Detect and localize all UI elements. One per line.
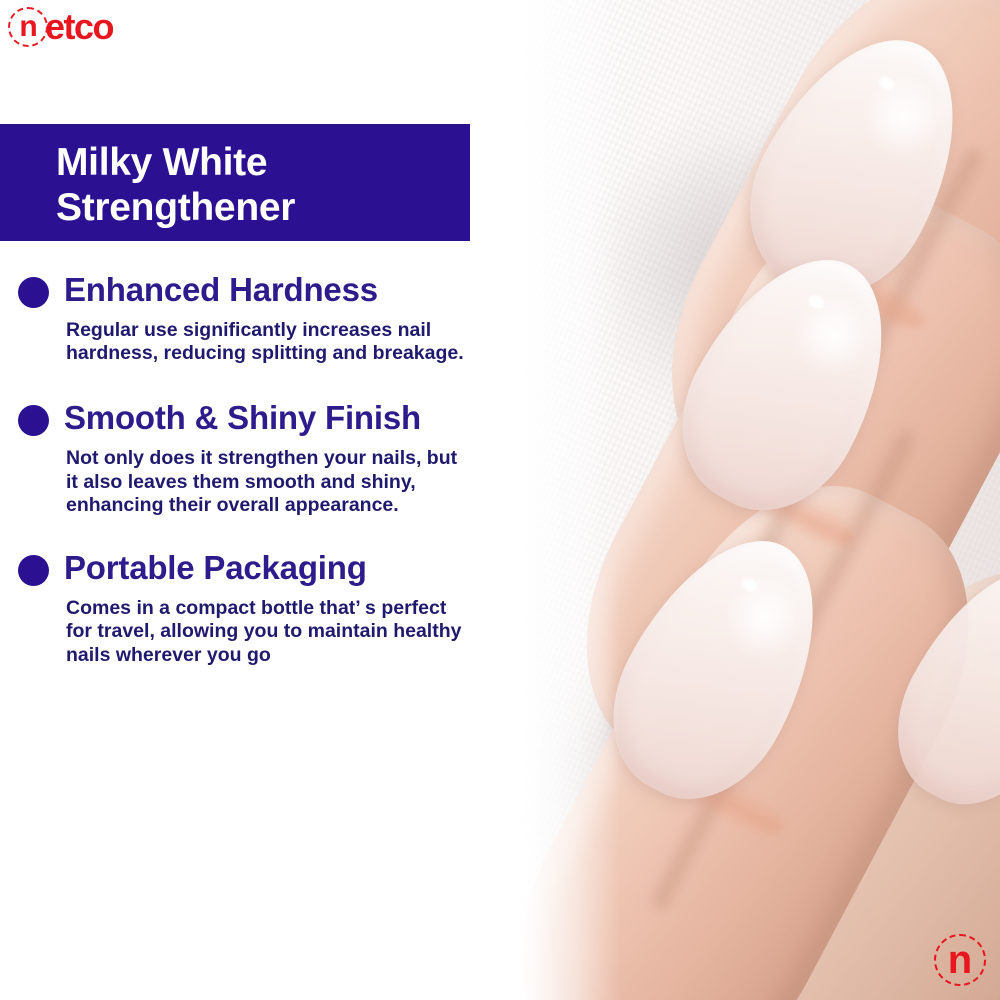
feature-description-line: enhancing their overall appearance. <box>66 494 486 518</box>
bullet-icon <box>18 555 49 586</box>
feature-description-line: for travel, allowing you to maintain hea… <box>66 620 486 644</box>
feature-item-portable-packaging: Portable Packaging Comes in a compact bo… <box>0 548 500 668</box>
feature-description-line: Regular use significantly increases nail <box>66 319 486 343</box>
feature-item-smooth-shiny-finish: Smooth & Shiny Finish Not only does it s… <box>0 398 500 518</box>
feature-description-line: Not only does it strengthen your nails, … <box>66 447 486 471</box>
product-photo <box>470 0 1000 1000</box>
feature-item-enhanced-hardness: Enhanced Hardness Regular use significan… <box>0 270 500 366</box>
feature-description-line: hardness, reducing splitting and breakag… <box>66 342 486 366</box>
photo-left-fade <box>470 0 620 1000</box>
nail-highlight <box>739 575 759 593</box>
watermark-n-letter: n <box>948 940 972 980</box>
bullet-icon <box>18 277 49 308</box>
product-title-line-2: Strengthener <box>56 185 472 230</box>
title-banner: Milky White Strengthener <box>0 124 472 241</box>
feature-heading: Enhanced Hardness <box>64 270 500 310</box>
feature-description: Regular use significantly increases nail… <box>66 319 486 367</box>
nail-highlight <box>806 293 826 311</box>
feature-description-line: Comes in a compact bottle that’ s perfec… <box>66 597 486 621</box>
circled-n-logomark-icon: n <box>8 7 48 47</box>
watermark-logo-icon: n <box>934 934 986 986</box>
nail-highlight <box>876 74 896 92</box>
brand-logo[interactable]: n etco <box>8 4 113 50</box>
feature-description: Comes in a compact bottle that’ s perfec… <box>66 597 486 668</box>
product-feature-graphic: n etco Milky White Strengthener Enhanced… <box>0 0 1000 1000</box>
brand-wordmark: etco <box>45 9 113 45</box>
bullet-icon <box>18 405 49 436</box>
logo-n-letter: n <box>19 12 36 42</box>
feature-heading: Portable Packaging <box>64 548 500 588</box>
feature-description-line: nails wherever you go <box>66 644 486 668</box>
feature-description: Not only does it strengthen your nails, … <box>66 447 486 518</box>
feature-description-line: it also leaves them smooth and shiny, <box>66 471 486 495</box>
feature-list: Enhanced Hardness Regular use significan… <box>0 270 500 690</box>
feature-heading: Smooth & Shiny Finish <box>64 398 500 438</box>
product-title-line-1: Milky White <box>56 140 472 185</box>
